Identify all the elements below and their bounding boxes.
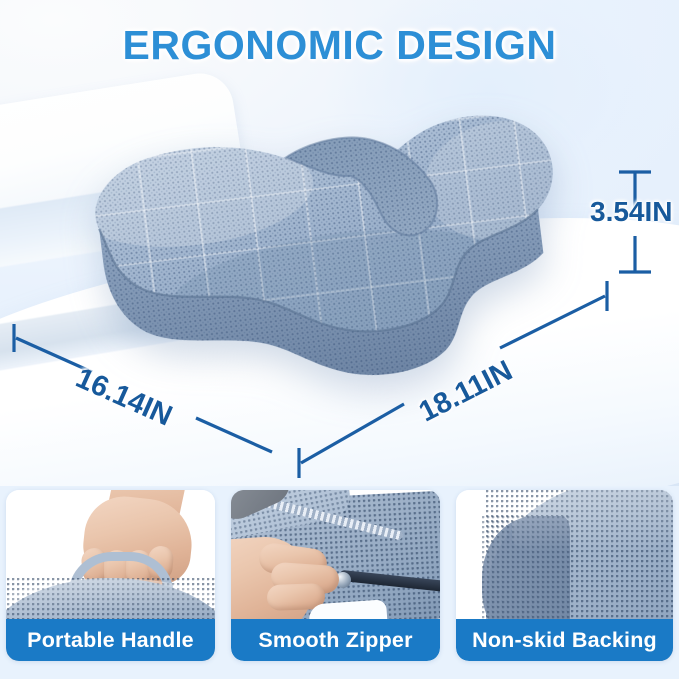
- feature-caption-non-skid-backing: Non-skid Backing: [456, 619, 673, 661]
- feature-caption-portable-handle: Portable Handle: [6, 619, 215, 661]
- feature-caption-smooth-zipper: Smooth Zipper: [231, 619, 440, 661]
- feature-panels: Portable Handle: [0, 486, 679, 679]
- feature-panel-portable-handle[interactable]: Portable Handle: [6, 490, 215, 661]
- dimension-label-height: 3.54IN: [590, 196, 673, 228]
- feature-panel-smooth-zipper[interactable]: Smooth Zipper: [231, 490, 440, 661]
- product-infographic: ERGONOMIC DESIGN 3.54IN 16.14IN 18.11IN: [0, 0, 679, 679]
- dimension-lines: [0, 0, 679, 486]
- feature-panel-non-skid-backing[interactable]: Non-skid Backing: [456, 490, 673, 661]
- page-title: ERGONOMIC DESIGN: [0, 22, 679, 69]
- hero-section: ERGONOMIC DESIGN 3.54IN 16.14IN 18.11IN: [0, 0, 679, 486]
